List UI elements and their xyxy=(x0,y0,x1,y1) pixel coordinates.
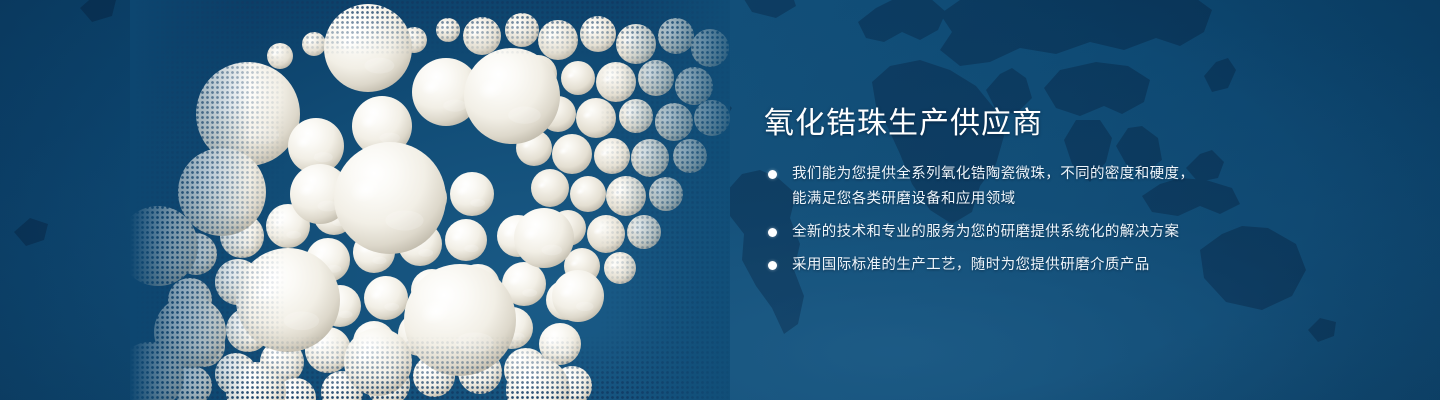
zirconia-beads-photo xyxy=(130,0,730,400)
bullet-dot-icon xyxy=(768,170,777,179)
bullet-dot-icon xyxy=(768,228,777,237)
list-item: 采用国际标准的生产工艺，随时为您提供研磨介质产品 xyxy=(762,253,1382,278)
page-title: 氧化锆珠生产供应商 xyxy=(764,104,1382,144)
list-item: 我们能为您提供全系列氧化锆陶瓷微珠，不同的密度和硬度， 能满足您各类研磨设备和应… xyxy=(762,162,1382,212)
bead-illustration xyxy=(130,0,730,400)
list-item-line: 采用国际标准的生产工艺，随时为您提供研磨介质产品 xyxy=(792,253,1382,278)
hero-banner: 氧化锆珠生产供应商 我们能为您提供全系列氧化锆陶瓷微珠，不同的密度和硬度， 能满… xyxy=(0,0,1440,400)
list-item-line: 全新的技术和专业的服务为您的研磨提供系统化的解决方案 xyxy=(792,220,1382,245)
banner-content: 氧化锆珠生产供应商 我们能为您提供全系列氧化锆陶瓷微珠，不同的密度和硬度， 能满… xyxy=(762,104,1382,278)
list-item-line: 我们能为您提供全系列氧化锆陶瓷微珠，不同的密度和硬度， xyxy=(792,162,1382,187)
list-item-line: 能满足您各类研磨设备和应用领域 xyxy=(792,187,1382,212)
bullet-dot-icon xyxy=(768,261,777,270)
feature-list: 我们能为您提供全系列氧化锆陶瓷微珠，不同的密度和硬度， 能满足您各类研磨设备和应… xyxy=(762,162,1382,278)
list-item: 全新的技术和专业的服务为您的研磨提供系统化的解决方案 xyxy=(762,220,1382,245)
